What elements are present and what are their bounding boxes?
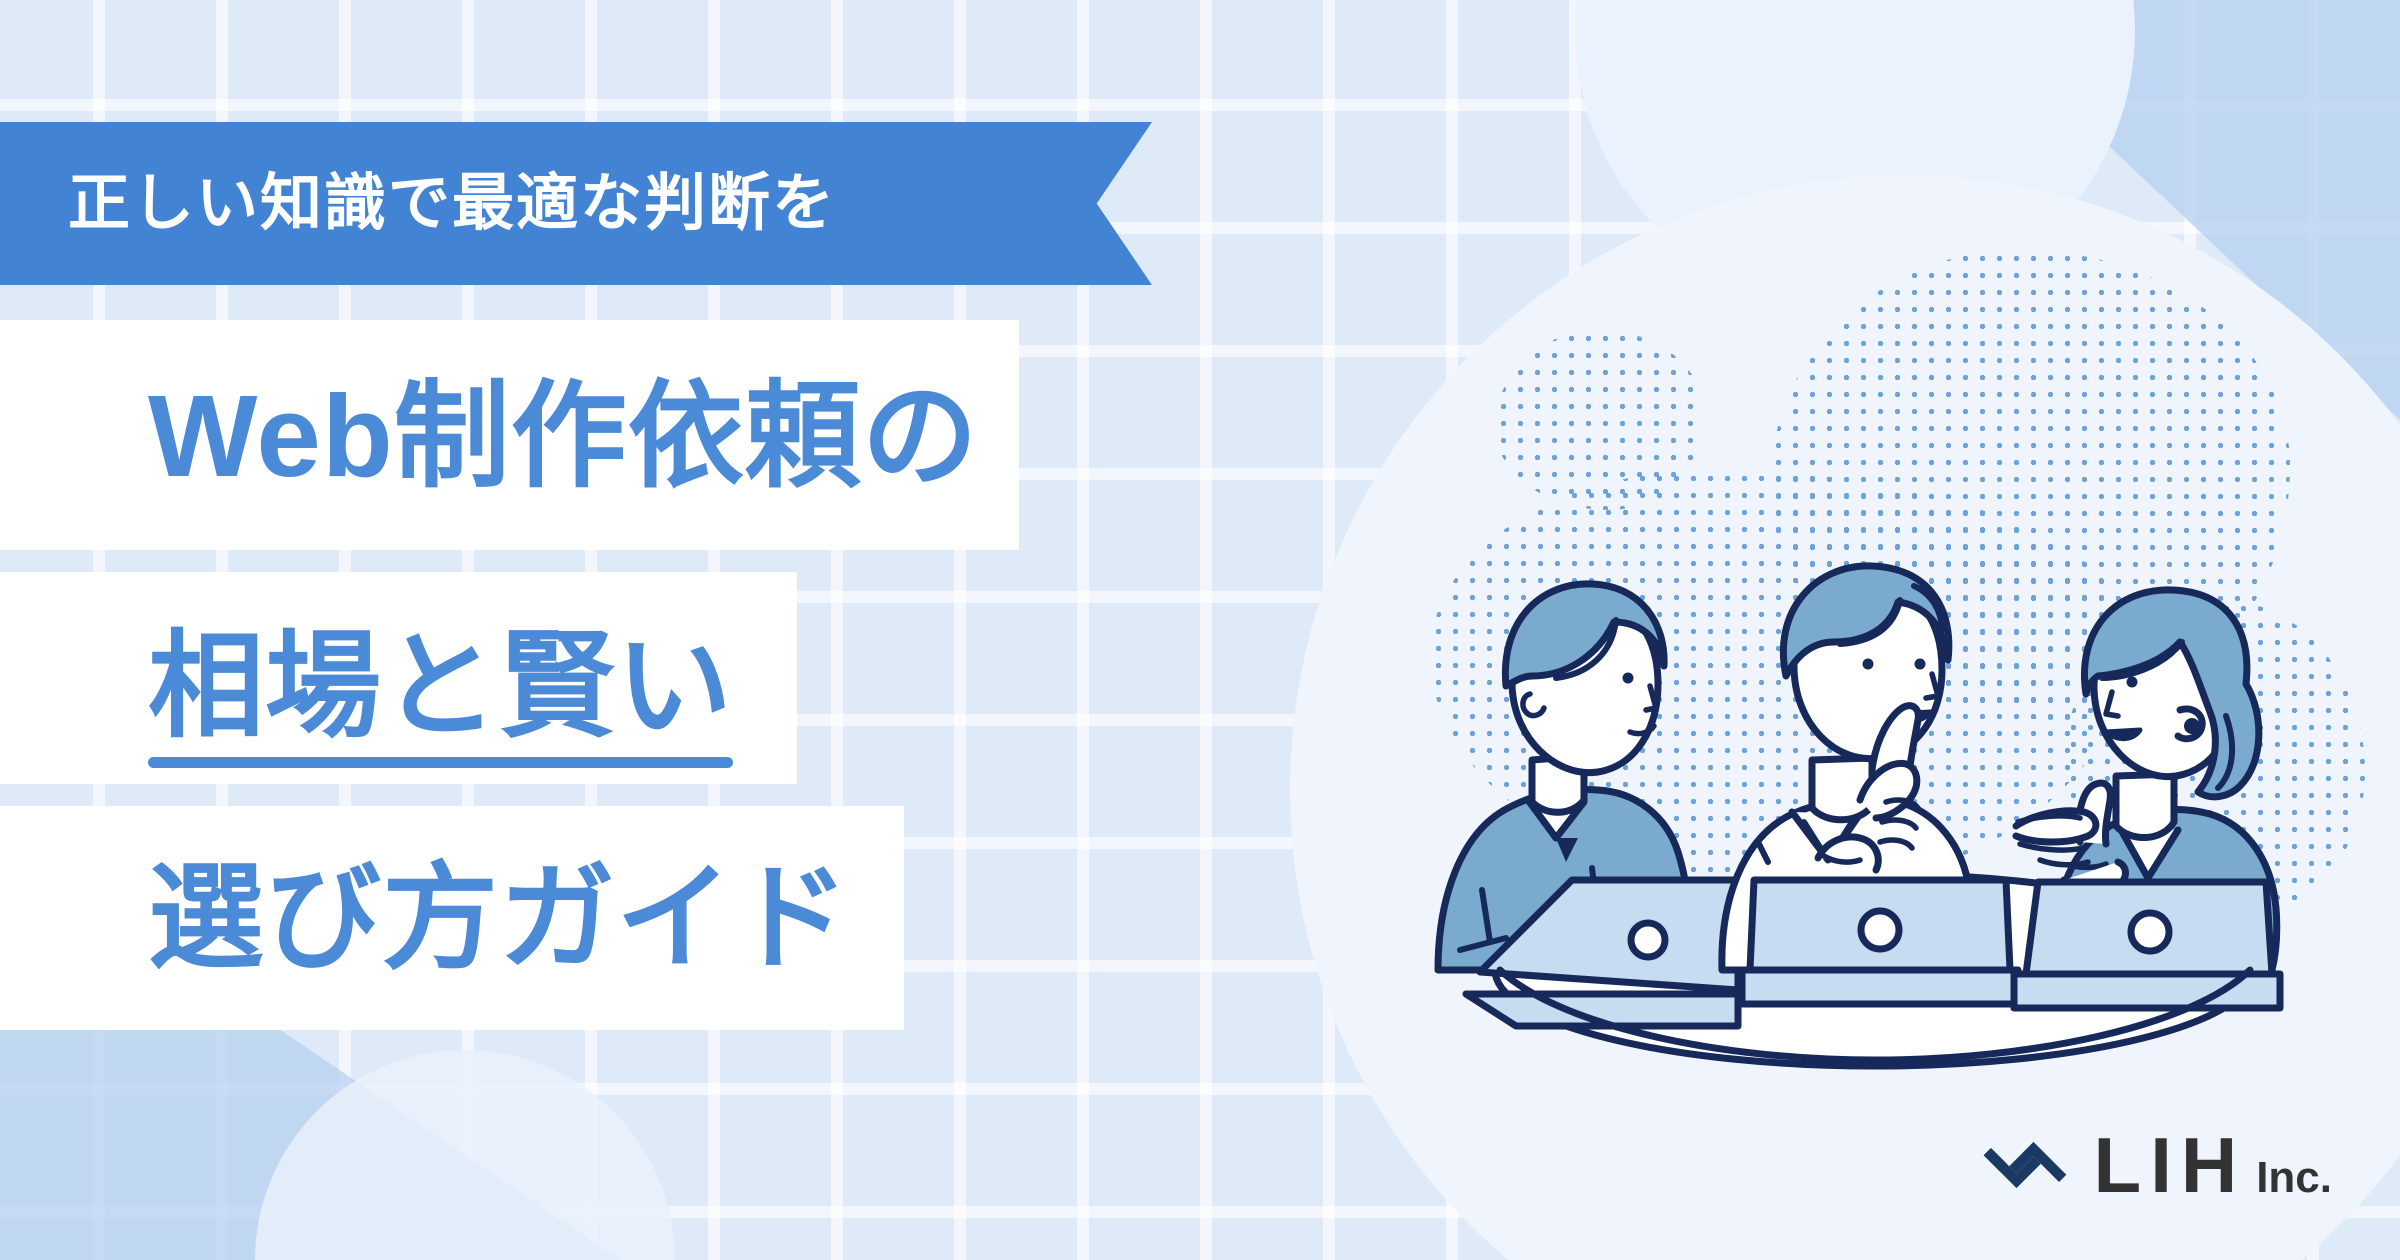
page-title: Web制作依頼の 相場と賢い 選び方ガイド	[0, 320, 1019, 1052]
headline-line-1: Web制作依頼の	[0, 320, 1019, 550]
brand-name: LIH	[2094, 1126, 2247, 1204]
headline-line-3: 選び方ガイド	[0, 806, 904, 1030]
brand-logo-wordmark: LIH Inc.	[2094, 1126, 2332, 1204]
headline-line-2: 相場と賢い	[148, 621, 733, 751]
brand-logo: LIH Inc.	[1982, 1122, 2332, 1208]
headline-row-1: Web制作依頼の	[0, 320, 1019, 550]
eyebrow-ribbon-label: 正しい知識で最適な判断を	[68, 173, 836, 235]
lih-monogram-icon	[1982, 1122, 2068, 1208]
headline-underline-bar	[148, 757, 733, 768]
eyebrow-ribbon: 正しい知識で最適な判断を	[0, 122, 1152, 285]
hero-banner: 正しい知識で最適な判断を Web制作依頼の 相場と賢い 選び方ガイド LIH	[0, 0, 2400, 1260]
brand-suffix: Inc.	[2256, 1156, 2332, 1200]
headline-line-2-plate: 相場と賢い	[0, 572, 797, 784]
headline-row-2: 相場と賢い	[0, 572, 1019, 784]
headline-row-3: 選び方ガイド	[0, 806, 1019, 1030]
meeting-illustration	[1420, 470, 2320, 1090]
